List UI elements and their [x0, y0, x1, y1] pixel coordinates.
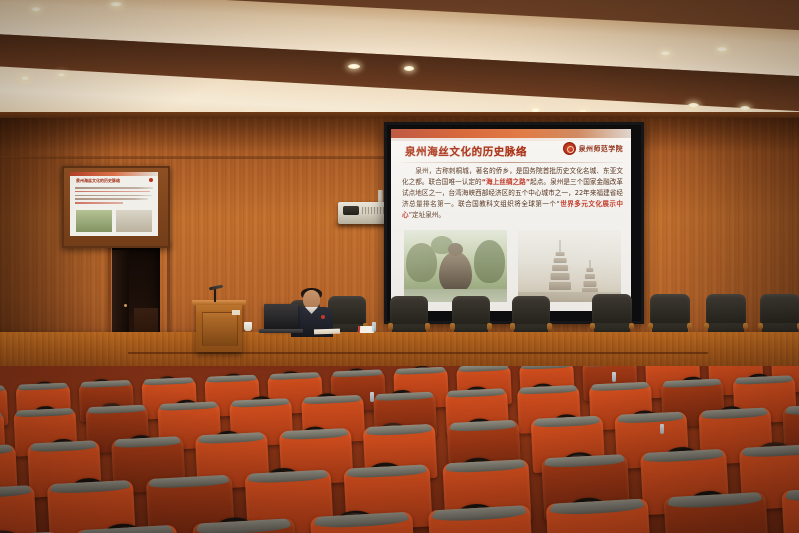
- desk-seam-1: [128, 352, 418, 354]
- stone-buddha-photo: [404, 230, 507, 302]
- lecture-hall-photo: 泉州海丝文化的历史脉络 泉州海丝文化的历史脉络 泉州师范学院: [0, 0, 799, 533]
- downlight-icon: [110, 2, 122, 7]
- presenter-laptop-base[interactable]: [259, 329, 303, 333]
- side-monitor-screen[interactable]: 泉州海丝文化的历史脉络: [70, 172, 158, 236]
- slide-logo-text: 泉州师范学院: [579, 144, 623, 154]
- slide-photos: [404, 230, 621, 302]
- downlight-icon: [57, 73, 66, 77]
- slide-highlight-1: “海上丝绸之路”: [482, 178, 531, 186]
- podium-top-surface: [192, 300, 246, 305]
- chair-arm-right: [425, 323, 430, 329]
- projector-lens-icon: [343, 206, 359, 215]
- chair-back: [760, 294, 799, 325]
- water-bottle: [370, 392, 374, 402]
- downlight-icon: [740, 106, 750, 111]
- downlight-icon: [688, 103, 699, 108]
- twin-pagoda-photo: [518, 230, 621, 302]
- water-bottle: [612, 372, 616, 382]
- wall-trim-mid: [0, 156, 390, 159]
- chair-arm-left: [450, 323, 455, 329]
- chair-back: [512, 296, 550, 326]
- audience-seating: [0, 366, 799, 533]
- microphone-stem: [214, 288, 216, 302]
- presenter-laptop-screen[interactable]: [264, 304, 298, 330]
- wall-trim-top: [0, 112, 799, 118]
- chair-arm-left: [388, 323, 393, 329]
- audience-seat[interactable]: [310, 512, 416, 533]
- stage-chair: [512, 296, 550, 336]
- chair-arm-left: [648, 323, 654, 330]
- chair-back: [706, 294, 746, 325]
- chair-arm-right: [743, 323, 749, 330]
- side-monitor-photo-left: [76, 210, 112, 232]
- audience-seat[interactable]: [781, 485, 799, 533]
- photo-haze-overlay: [404, 230, 507, 302]
- podium-front-panel: [202, 312, 238, 346]
- audience-seat[interactable]: [428, 505, 534, 533]
- stage-chair: [390, 296, 428, 336]
- photo-haze-overlay-2: [518, 230, 621, 302]
- chair-arm-right: [687, 323, 693, 330]
- side-monitor-text-lines: [75, 187, 153, 206]
- stage-chair: [760, 294, 799, 336]
- downlight-icon: [404, 66, 414, 71]
- chair-back: [390, 296, 428, 326]
- audience-seat[interactable]: [546, 498, 652, 533]
- chair-back: [592, 294, 632, 325]
- chair-back: [452, 296, 490, 326]
- stage-chair: [452, 296, 490, 336]
- chair-arm-left: [510, 323, 515, 329]
- desk-papers: [314, 329, 340, 335]
- projector-vent: [362, 207, 384, 214]
- chair-back: [650, 294, 690, 325]
- chair-arm-right: [629, 323, 635, 330]
- water-bottle: [660, 424, 664, 434]
- stage-chair: [706, 294, 746, 336]
- audience-seat[interactable]: [664, 492, 770, 533]
- downlight-icon: [660, 51, 671, 56]
- chair-arm-left: [590, 323, 596, 330]
- downlight-icon: [20, 76, 30, 81]
- side-monitor-title: 泉州海丝文化的历史脉络: [76, 178, 120, 184]
- downlight-icon: [31, 7, 41, 12]
- slide-logo: 泉州师范学院: [563, 142, 623, 155]
- door-knob[interactable]: [124, 304, 127, 307]
- chair-arm-right: [547, 323, 552, 329]
- side-monitor-topbar: [70, 172, 158, 176]
- presentation-slide: 泉州海丝文化的历史脉络 泉州师范学院 泉州，古称刺桐城，著名的侨乡，是国务院首批…: [391, 129, 631, 311]
- slide-divider: [401, 162, 623, 163]
- stage-chair: [592, 294, 632, 336]
- chair-arm-left: [704, 323, 710, 330]
- slide-top-accent-bar-2: [391, 138, 631, 141]
- water-bottle: [372, 322, 376, 332]
- slide-body-text: 泉州，古称刺桐城，著名的侨乡，是国务院首批历史文化名城、东亚文化之都。联合国唯一…: [402, 166, 623, 221]
- presenter-badge-icon: [321, 315, 325, 319]
- chair-arm-left: [758, 323, 764, 330]
- slide-top-accent-bar: [391, 129, 631, 138]
- university-seal-icon: [563, 142, 576, 155]
- projection-screen[interactable]: 泉州海丝文化的历史脉络 泉州师范学院 泉州，古称刺桐城，著名的侨乡，是国务院首批…: [391, 129, 631, 311]
- downlight-icon: [716, 47, 728, 52]
- podium-name-card: [232, 310, 240, 315]
- slide-body-part-3: ”定址泉州。: [409, 211, 445, 219]
- stage-chair: [650, 294, 690, 336]
- paper-cup: [244, 322, 252, 331]
- downlight-icon: [348, 64, 360, 69]
- desk-seam-2: [418, 352, 708, 354]
- chair-arm-right: [487, 323, 492, 329]
- side-monitor-seal-icon: [149, 178, 153, 182]
- side-monitor-photo-right: [116, 210, 152, 232]
- slide-title: 泉州海丝文化的历史脉络: [405, 143, 555, 160]
- audience-seat[interactable]: [192, 518, 298, 533]
